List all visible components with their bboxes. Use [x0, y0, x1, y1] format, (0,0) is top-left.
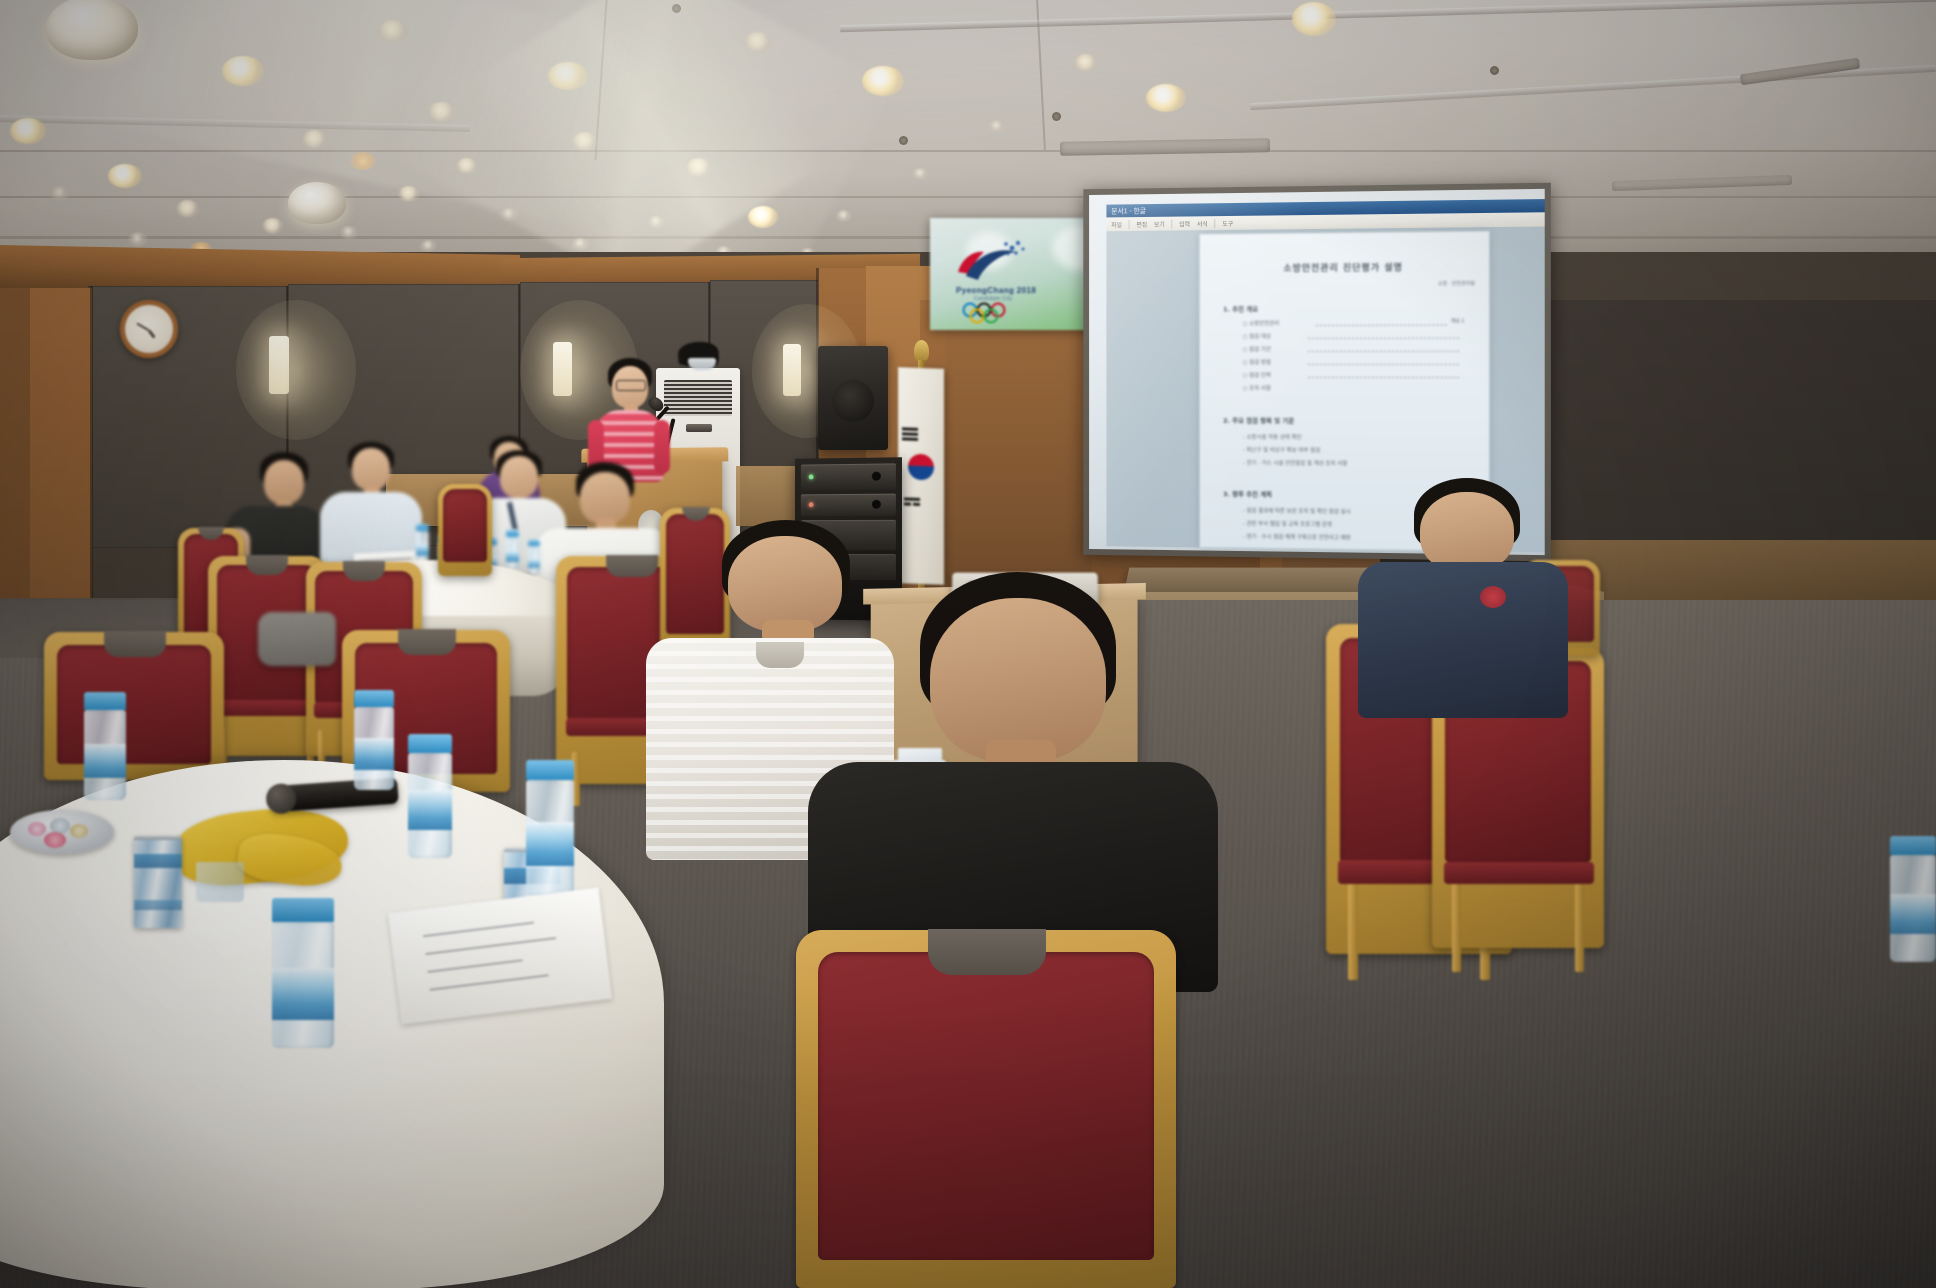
collar — [756, 642, 804, 668]
wood-wall-panel — [920, 300, 1100, 600]
doc-list-item: ○ 조치 사항 — [1243, 384, 1271, 392]
toolbar-item-view[interactable]: 보기 — [1154, 219, 1165, 228]
banquet-chair — [438, 484, 492, 576]
water-bottle — [526, 760, 574, 896]
rack-status-led — [809, 502, 814, 507]
drinking-glass — [196, 862, 244, 902]
window-title: 문서1 - 한글 — [1111, 206, 1146, 216]
korean-flag — [898, 367, 944, 585]
sprinkler-head — [672, 4, 681, 13]
toolbar-item-file[interactable]: 파일 — [1111, 220, 1122, 229]
document-subtitle: 소방 · 안전관리팀 — [1438, 280, 1475, 287]
sprinkler-head — [899, 136, 908, 145]
shirt-logo — [1480, 586, 1506, 608]
sconce-glow — [236, 300, 356, 440]
doc-list-item: ○ 소방안전관리 — [1243, 319, 1279, 327]
water-bottle — [84, 692, 126, 800]
toolbar-item-tools[interactable]: 도구 — [1222, 218, 1233, 227]
water-bottle — [416, 524, 429, 564]
doc-list-page: 개요 1 — [1451, 317, 1465, 324]
banquet-chair-closest — [796, 930, 1176, 1288]
water-bottle — [528, 540, 540, 576]
water-bottle — [354, 690, 394, 790]
ceiling-dome-lamp — [288, 182, 346, 224]
wall-clock — [120, 300, 178, 358]
conference-room-photo: PyeongChang 2018 Candidate City 소 — [0, 0, 1936, 1288]
doc-list-item: ○ 점검 기간 — [1243, 345, 1271, 353]
wall-sconce — [553, 342, 572, 396]
banquet-chair-foreground — [44, 632, 224, 780]
sprinkler-head — [1052, 112, 1061, 121]
doc-list-item: - 관련 부서 협업 및 교육 프로그램 운영 — [1243, 519, 1332, 528]
toolbar-item-input[interactable]: 입력 — [1179, 219, 1190, 228]
doc-list-item: ○ 점검 대상 — [1243, 332, 1271, 340]
beverage-can — [134, 836, 182, 928]
shoulder-bag — [258, 612, 336, 666]
ceiling-beam — [0, 115, 470, 132]
person-attendee-navy — [1358, 478, 1568, 718]
flagpole-finial — [914, 340, 929, 362]
water-bottle — [272, 898, 334, 1048]
pa-speaker — [818, 346, 888, 450]
ceiling-vent — [1060, 138, 1270, 156]
doc-list-item: - 정기 · 수시 점검 체계 구축으로 안전사고 예방 — [1243, 532, 1351, 541]
doc-list-item: ○ 점검 인력 — [1243, 371, 1271, 379]
doc-section-heading: 1. 추진 개요 — [1223, 303, 1258, 313]
water-bottle — [1890, 836, 1936, 962]
wall-sconce — [783, 344, 801, 396]
water-bottle — [506, 530, 519, 570]
document-title: 소방안전관리 진단평가 설명 — [1200, 260, 1490, 275]
doc-list-item: - 소방시설 작동 상태 확인 — [1243, 433, 1302, 441]
doc-list-item: - 점검 결과에 따른 보완 조치 및 확인 점검 실시 — [1243, 506, 1351, 515]
pyeongchang-emblem-icon — [954, 238, 1038, 288]
toolbar-item-edit[interactable]: 편집 — [1136, 219, 1147, 228]
person-presenter — [586, 358, 670, 478]
snack-plate — [10, 810, 114, 854]
olympic-rings-icon — [960, 302, 1022, 324]
doc-section-heading: 3. 향후 추진 계획 — [1223, 488, 1272, 498]
doc-list-item: - 전기 · 가스 시설 안전점검 및 개선 조치 사항 — [1243, 459, 1348, 468]
ceiling-dome-lamp — [46, 0, 138, 60]
ac-top-bowl — [688, 358, 716, 370]
ceiling-beam — [840, 0, 1936, 32]
doc-list-item: ○ 점검 방법 — [1243, 358, 1271, 366]
wall-sconce — [269, 336, 289, 394]
water-bottle — [408, 734, 452, 858]
rack-status-led — [809, 474, 814, 479]
toolbar-item-format[interactable]: 서식 — [1197, 219, 1208, 228]
doc-list-item: - 피난구 및 비상구 확보 여부 점검 — [1243, 446, 1320, 454]
banner-brand-text: PyeongChang 2018 — [956, 286, 1036, 295]
sprinkler-head — [1490, 66, 1499, 75]
doc-section-heading: 2. 주요 점검 항목 및 기준 — [1223, 415, 1294, 425]
ceiling-vent — [1612, 175, 1792, 191]
